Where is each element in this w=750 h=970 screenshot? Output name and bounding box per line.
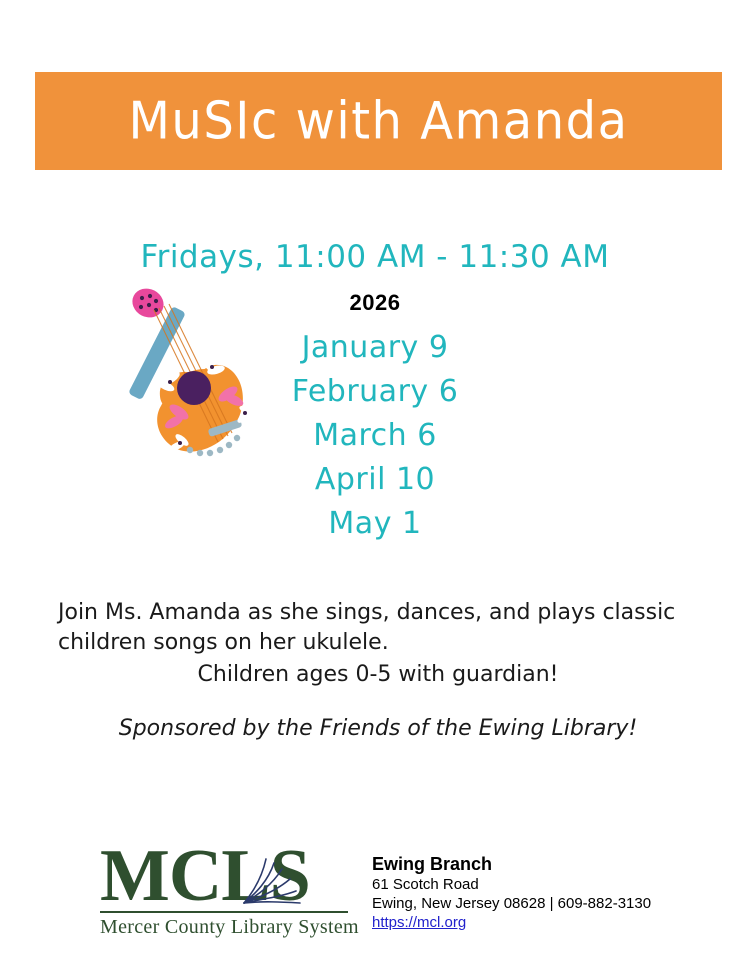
flyer-page: MuSIc with Amanda <box>0 0 750 970</box>
branch-info: Ewing Branch 61 Scotch Road Ewing, New J… <box>372 853 702 932</box>
session-time: Fridays, 11:00 AM - 11:30 AM <box>0 240 750 276</box>
footer: MCLS Mercer County Library System Ewing … <box>0 838 750 958</box>
branch-name: Ewing Branch <box>372 853 702 875</box>
description-line-1: Join Ms. Amanda as she sings, dances, an… <box>58 598 698 628</box>
list-item: February 6 <box>0 370 750 414</box>
branch-website-link[interactable]: https://mcl.org <box>372 913 466 932</box>
list-item: March 6 <box>0 414 750 458</box>
logo-tagline: Mercer County Library System <box>100 916 350 939</box>
audience-note: Children ages 0-5 with guardian! <box>58 660 698 690</box>
description-line-2: children songs on her ukulele. <box>58 628 698 658</box>
description-block: Join Ms. Amanda as she sings, dances, an… <box>58 598 698 690</box>
list-item: May 1 <box>0 502 750 546</box>
header-banner: MuSIc with Amanda <box>35 72 722 170</box>
sponsor-note: Sponsored by the Friends of the Ewing Li… <box>58 714 698 744</box>
schedule-block: Fridays, 11:00 AM - 11:30 AM 2026 Januar… <box>0 240 750 562</box>
page-title: MuSIc with Amanda <box>128 95 628 147</box>
branch-street: 61 Scotch Road <box>372 875 702 894</box>
mcls-logo: MCLS Mercer County Library System <box>100 843 350 939</box>
list-item: April 10 <box>0 458 750 502</box>
branch-city-phone: Ewing, New Jersey 08628 | 609-882-3130 <box>372 894 702 913</box>
logo-letters: MCLS <box>100 843 350 909</box>
session-year: 2026 <box>0 290 750 316</box>
session-date-list: January 9 February 6 March 6 April 10 Ma… <box>0 326 750 546</box>
list-item: January 9 <box>0 326 750 370</box>
logo-mark: MCLS <box>100 843 350 909</box>
